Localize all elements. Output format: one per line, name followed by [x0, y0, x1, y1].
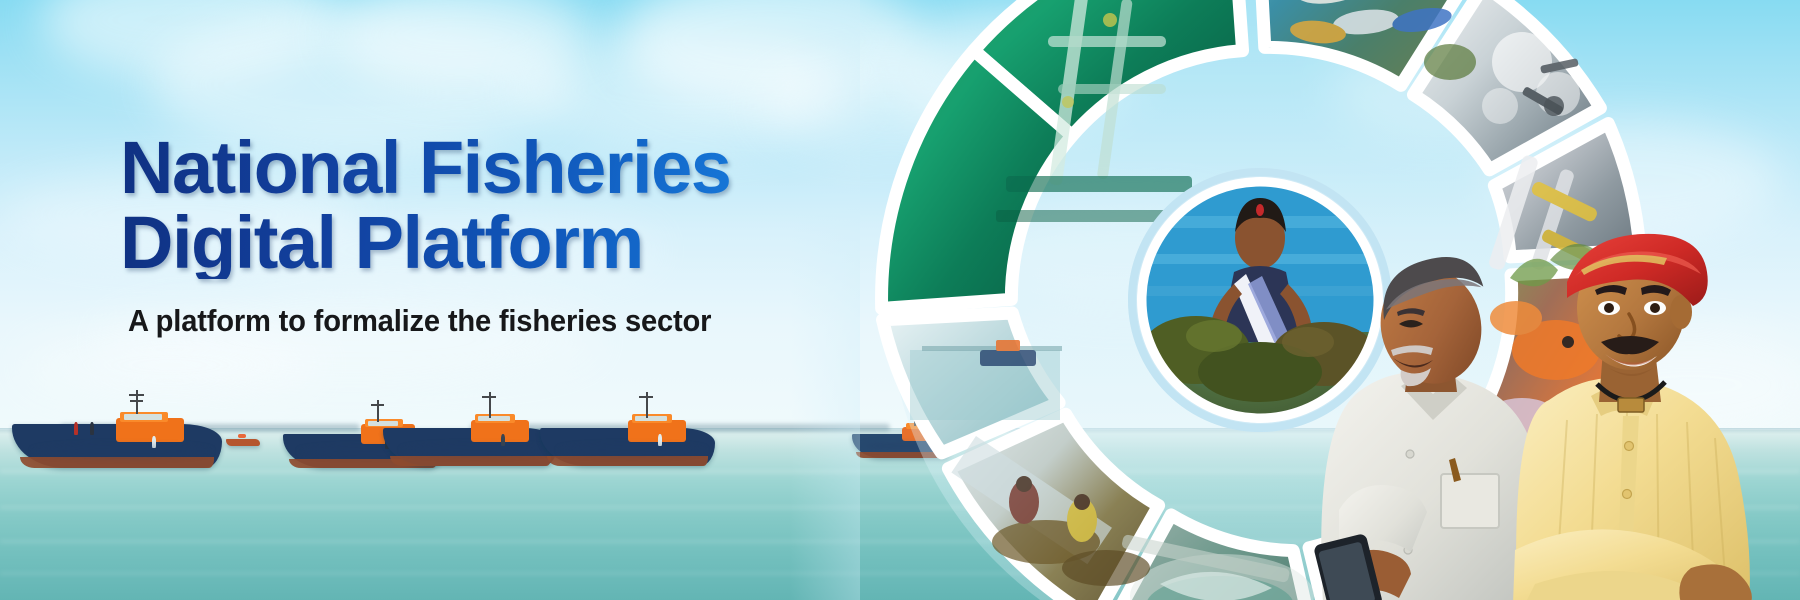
fishing-trawler-4 — [540, 404, 715, 466]
shirt-pocket — [1441, 474, 1499, 528]
page-subtitle: A platform to formalize the fisheries se… — [128, 303, 854, 339]
boat-window — [635, 416, 667, 421]
fishing-trawler-3 — [383, 404, 558, 466]
boat-mast-bar — [639, 396, 653, 398]
headline-block: National Fisheries Digital Platform A pl… — [120, 132, 900, 339]
boat-window — [478, 416, 510, 421]
cloud — [40, 0, 340, 80]
boat-mast-bar — [130, 400, 143, 402]
boat-waterline — [390, 456, 551, 466]
fishing-trawler-1 — [12, 398, 222, 468]
boat-cabin — [238, 434, 246, 438]
boat-hull — [226, 439, 260, 446]
boat-reflection — [558, 444, 706, 456]
fisherman-red-turban — [1505, 232, 1800, 600]
boat-cabin — [628, 420, 686, 442]
hero-banner: National Fisheries Digital Platform A pl… — [0, 0, 1800, 600]
cloud — [20, 330, 320, 400]
boat-waterline — [20, 457, 213, 468]
necklace-pendant — [1618, 398, 1644, 412]
page-title-line-2: Digital Platform — [120, 207, 900, 280]
crew-member — [74, 422, 78, 435]
small-skiff — [226, 434, 260, 446]
boat-mast-bar — [482, 396, 496, 398]
crew-member — [90, 422, 94, 435]
boat-reflection — [32, 444, 212, 458]
boat-cabin — [471, 420, 529, 442]
cloud — [330, 0, 590, 90]
boat-reflection — [401, 444, 549, 456]
boat-window — [124, 414, 162, 420]
page-title-line-1: National Fisheries — [120, 132, 900, 205]
boat-waterline — [547, 456, 708, 466]
boat-mast-bar — [129, 394, 144, 396]
